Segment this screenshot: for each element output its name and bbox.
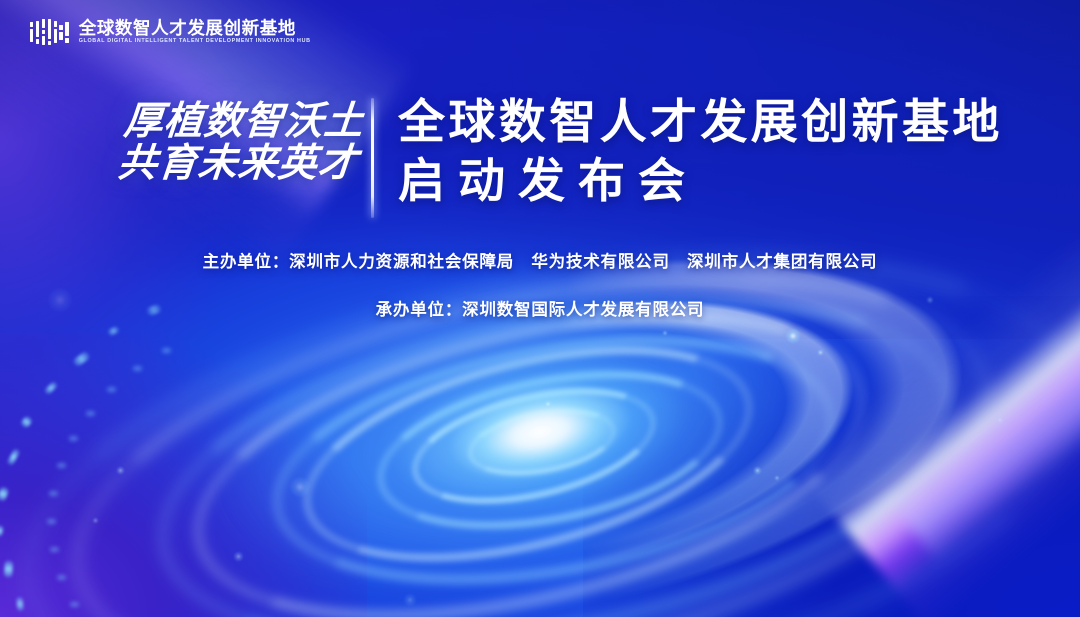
organizers-line: 主办单位：深圳市人力资源和社会保障局 华为技术有限公司 深圳市人才集团有限公司 <box>0 248 1080 272</box>
logo-bar-segment <box>59 25 62 30</box>
logo-bar-column <box>54 19 57 45</box>
logo-bar-segment <box>42 30 45 35</box>
vertical-divider <box>371 98 374 218</box>
brand-logo-lockup: 全球数智人才发展创新基地 GLOBAL DIGITAL INTELLIGENT … <box>30 19 311 45</box>
logo-bar-segment <box>30 22 33 27</box>
logo-bar-column <box>65 19 68 45</box>
logo-bar-column <box>59 19 62 45</box>
slogan-calligraphy: 厚植数智沃土 共育未来英才 <box>118 100 358 184</box>
data-bars-icon <box>30 19 69 45</box>
logo-bar-segment <box>54 21 57 27</box>
brand-logo-text: 全球数智人才发展创新基地 GLOBAL DIGITAL INTELLIGENT … <box>79 20 311 44</box>
logo-bar-segment <box>48 41 51 45</box>
logo-bar-segment <box>65 38 68 43</box>
logo-bar-segment <box>54 29 57 43</box>
logo-bar-segment <box>42 19 45 28</box>
poster-canvas: 全球数智人才发展创新基地 GLOBAL DIGITAL INTELLIGENT … <box>0 0 1080 617</box>
logo-bar-segment <box>65 22 68 36</box>
brand-name-cn: 全球数智人才发展创新基地 <box>79 20 311 38</box>
page-subtitle: 启动发布会 <box>398 154 1003 208</box>
executors-line: 承办单位：深圳数智国际人才发展有限公司 <box>0 296 1080 320</box>
logo-bar-segment <box>59 32 62 40</box>
logo-bar-column <box>48 19 51 45</box>
brand-name-en: GLOBAL DIGITAL INTELLIGENT TALENT DEVELO… <box>79 38 311 44</box>
logo-bar-segment <box>36 39 39 44</box>
logo-bar-column <box>36 19 39 45</box>
credits-block: 主办单位：深圳市人力资源和社会保障局 华为技术有限公司 深圳市人才集团有限公司 … <box>0 248 1080 320</box>
title-block: 全球数智人才发展创新基地 启动发布会 <box>398 96 1003 208</box>
logo-bar-segment <box>42 36 45 45</box>
slogan-line-2: 共育未来英才 <box>116 142 360 184</box>
logo-bar-column <box>30 19 33 45</box>
logo-bar-segment <box>30 29 33 42</box>
slogan-line-1: 厚植数智沃土 <box>122 100 360 142</box>
logo-bar-column <box>42 19 45 45</box>
logo-bar-segment <box>48 19 51 39</box>
page-title: 全球数智人才发展创新基地 <box>398 96 1003 148</box>
poster-content: 全球数智人才发展创新基地 GLOBAL DIGITAL INTELLIGENT … <box>0 0 1080 617</box>
logo-bar-segment <box>36 21 39 37</box>
